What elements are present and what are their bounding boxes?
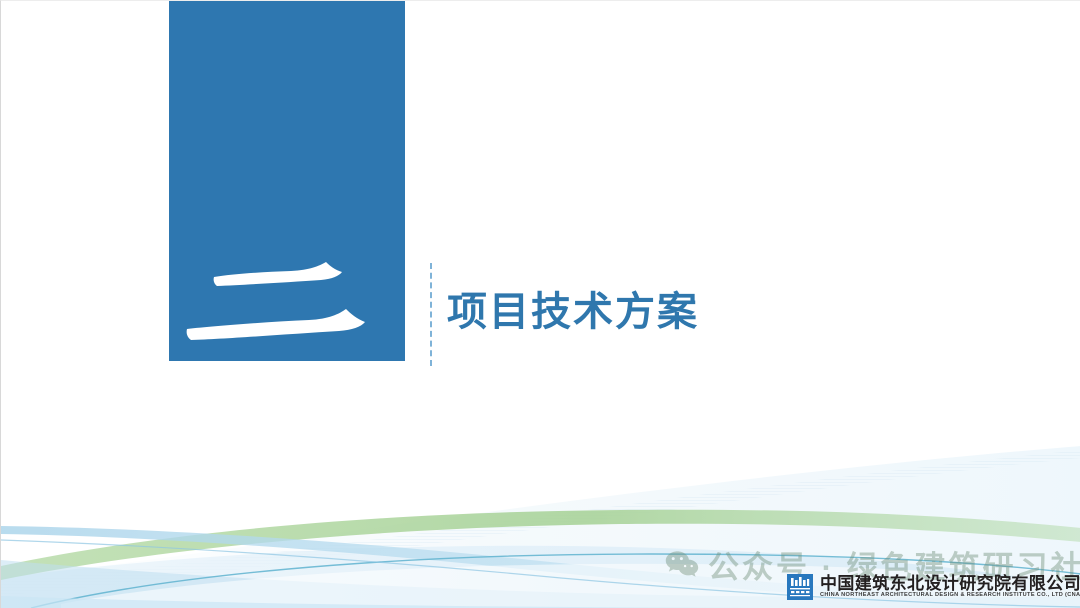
dashed-separator (430, 263, 432, 366)
cnadri-logo-icon (787, 574, 813, 600)
wechat-icon (665, 550, 699, 580)
section-number-glyph: 二 (169, 241, 405, 361)
company-name-cn: 中国建筑东北设计研究院有限公司 (820, 575, 1080, 592)
slide-canvas: 二 项目技术方案 公众号 · 绿色建筑研习社 (0, 0, 1080, 608)
company-names: 中国建筑东北设计研究院有限公司 CHINA NORTHEAST ARCHITEC… (820, 574, 1080, 599)
company-logo-block: 中国建筑东北设计研究院有限公司 CHINA NORTHEAST ARCHITEC… (787, 574, 1080, 600)
page-title: 项目技术方案 (447, 289, 699, 335)
section-number-panel: 二 (169, 1, 405, 361)
company-name-en: CHINA NORTHEAST ARCHITECTURAL DESIGN & R… (820, 593, 1080, 599)
